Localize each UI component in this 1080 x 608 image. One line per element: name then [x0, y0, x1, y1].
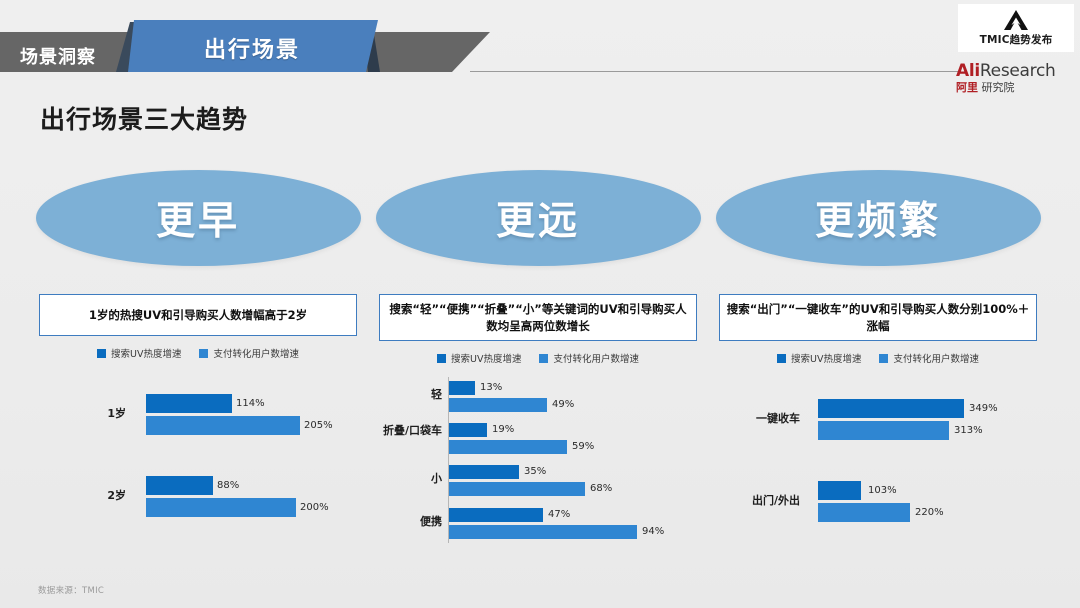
ali-cn-dark: 研究院 — [982, 81, 1015, 94]
chart2-category-label-1: 折叠/口袋车 — [382, 425, 442, 438]
chart2-value-cat2-series2: 68% — [590, 483, 612, 494]
chart2-bar-cat3-series2 — [449, 525, 637, 539]
chart3-value-cat0-series2: 313% — [954, 425, 983, 436]
legend-item-series1: 搜索UV热度增速 — [777, 351, 861, 365]
chart2-value-cat1-series1: 19% — [492, 424, 514, 435]
chart1-value-cat0-series1: 114% — [236, 398, 265, 409]
chart2-value-cat0-series1: 13% — [480, 382, 502, 393]
chart2-bar-cat0-series2 — [449, 398, 547, 412]
source-footnote: 数据来源：TMIC — [38, 584, 104, 596]
header-section-label: 场景洞察 — [20, 43, 96, 69]
trend-caption-box-2: 搜索“轻”“便携”“折叠”“小”等关键词的UV和引导购买人数均呈高两位数增长 — [379, 294, 697, 341]
trend-caption-text-2: 搜索“轻”“便携”“折叠”“小”等关键词的UV和引导购买人数均呈高两位数增长 — [386, 301, 690, 334]
chart2-bar-cat2-series2 — [449, 482, 585, 496]
chart3-category-label-0: 一键收车 — [724, 413, 800, 426]
ali-cn-red: 阿里 — [956, 81, 978, 94]
trend-caption-text-3: 搜索“出门”“一键收车”的UV和引导购买人数分别100%＋涨幅 — [726, 301, 1030, 334]
trend-ellipse-1: 更早 — [36, 170, 361, 266]
legend-swatch-series1-icon — [777, 354, 786, 363]
chart2-value-cat3-series2: 94% — [642, 526, 664, 537]
trend-column-3: 更频繁 搜索“出门”“一键收车”的UV和引导购买人数分别100%＋涨幅 搜索UV… — [708, 170, 1048, 545]
legend-swatch-series2-icon — [199, 349, 208, 358]
chart3-bar-cat0-series2 — [818, 421, 949, 440]
legend-label-series1: 搜索UV热度增速 — [451, 351, 521, 365]
chart-legend-1: 搜索UV热度增速 支付转化用户数增速 — [28, 346, 368, 360]
chart2-bar-cat0-series1 — [449, 381, 475, 395]
chart2-bar-cat1-series1 — [449, 423, 487, 437]
chart1-bar-cat1-series1 — [146, 476, 213, 495]
ali-wordmark-research: Research — [980, 61, 1056, 81]
trend-ellipse-label-1: 更早 — [156, 190, 240, 246]
legend-item-series2: 支付转化用户数增速 — [879, 351, 979, 365]
trend-column-1: 更早 1岁的热搜UV和引导购买人数增幅高于2岁 搜索UV热度增速 支付转化用户数… — [28, 170, 368, 540]
slide-canvas: 场景洞察 出行场景 TMIC趋势发布 AliResearch 阿里 研究院 出行… — [0, 0, 1080, 608]
chart2-category-label-2: 小 — [398, 473, 442, 486]
trend-caption-box-1: 1岁的热搜UV和引导购买人数增幅高于2岁 — [39, 294, 357, 336]
bar-chart-2: 轻 13% 49% 折叠/口袋车 19% 59% 小 35% 68% 便携 47… — [368, 377, 708, 545]
trend-column-2: 更远 搜索“轻”“便携”“折叠”“小”等关键词的UV和引导购买人数均呈高两位数增… — [368, 170, 708, 545]
legend-swatch-series2-icon — [879, 354, 888, 363]
trend-ellipse-2: 更远 — [376, 170, 701, 266]
tmic-logo: TMIC趋势发布 — [958, 4, 1074, 52]
chart2-bar-cat1-series2 — [449, 440, 567, 454]
trend-ellipse-3: 更频繁 — [716, 170, 1041, 266]
page-title: 出行场景三大趋势 — [40, 100, 248, 136]
bar-chart-1: 1岁 114% 205% 2岁 88% 200% — [28, 372, 368, 540]
trend-caption-box-3: 搜索“出门”“一键收车”的UV和引导购买人数分别100%＋涨幅 — [719, 294, 1037, 341]
trend-ellipse-label-3: 更频繁 — [815, 190, 941, 246]
ali-research-logo: AliResearch 阿里 研究院 — [956, 58, 1074, 98]
bar-chart-3: 一键收车 349% 313% 出门/外出 103% 220% — [708, 377, 1048, 545]
legend-swatch-series1-icon — [437, 354, 446, 363]
chart1-bar-cat0-series1 — [146, 394, 232, 413]
chart3-category-label-1: 出门/外出 — [718, 495, 800, 508]
chart1-bar-cat1-series2 — [146, 498, 296, 517]
chart2-bar-cat2-series1 — [449, 465, 519, 479]
legend-item-series2: 支付转化用户数增速 — [199, 346, 299, 360]
trend-caption-text-1: 1岁的热搜UV和引导购买人数增幅高于2岁 — [89, 307, 307, 324]
chart2-value-cat2-series1: 35% — [524, 466, 546, 477]
trend-ellipse-label-2: 更远 — [496, 190, 580, 246]
chart3-value-cat0-series1: 349% — [969, 403, 998, 414]
ali-research-wordmark: AliResearch — [956, 63, 1056, 80]
header-divider-rule — [470, 71, 960, 72]
header-title-label: 出行场景 — [128, 32, 376, 64]
chart3-value-cat1-series2: 220% — [915, 507, 944, 518]
legend-label-series2: 支付转化用户数增速 — [213, 346, 299, 360]
chart1-value-cat0-series2: 205% — [304, 420, 333, 431]
tmic-logo-text: TMIC趋势发布 — [980, 32, 1053, 47]
ali-research-cn: 阿里 研究院 — [956, 82, 1015, 93]
chart1-category-label-0: 1岁 — [86, 408, 126, 421]
chart2-value-cat0-series2: 49% — [552, 399, 574, 410]
ali-wordmark-ali: Ali — [956, 61, 980, 81]
chart2-value-cat3-series1: 47% — [548, 509, 570, 520]
chart3-bar-cat0-series1 — [818, 399, 964, 418]
chart2-bar-cat3-series1 — [449, 508, 543, 522]
chart-legend-2: 搜索UV热度增速 支付转化用户数增速 — [368, 351, 708, 365]
legend-swatch-series1-icon — [97, 349, 106, 358]
legend-label-series2: 支付转化用户数增速 — [553, 351, 639, 365]
legend-item-series2: 支付转化用户数增速 — [539, 351, 639, 365]
chart1-category-label-1: 2岁 — [86, 490, 126, 503]
chart1-bar-cat0-series2 — [146, 416, 300, 435]
legend-label-series1: 搜索UV热度增速 — [111, 346, 181, 360]
chart2-category-label-0: 轻 — [398, 389, 442, 402]
chart3-bar-cat1-series2 — [818, 503, 910, 522]
chart2-category-label-3: 便携 — [398, 516, 442, 529]
chart3-value-cat1-series1: 103% — [868, 485, 897, 496]
legend-swatch-series2-icon — [539, 354, 548, 363]
chart-legend-3: 搜索UV热度增速 支付转化用户数增速 — [708, 351, 1048, 365]
legend-item-series1: 搜索UV热度增速 — [97, 346, 181, 360]
chart3-bar-cat1-series1 — [818, 481, 861, 500]
tmic-arrow-icon — [1003, 9, 1029, 31]
legend-item-series1: 搜索UV热度增速 — [437, 351, 521, 365]
legend-label-series2: 支付转化用户数增速 — [893, 351, 979, 365]
legend-label-series1: 搜索UV热度增速 — [791, 351, 861, 365]
chart1-value-cat1-series2: 200% — [300, 502, 329, 513]
chart1-value-cat1-series1: 88% — [217, 480, 239, 491]
chart2-value-cat1-series2: 59% — [572, 441, 594, 452]
